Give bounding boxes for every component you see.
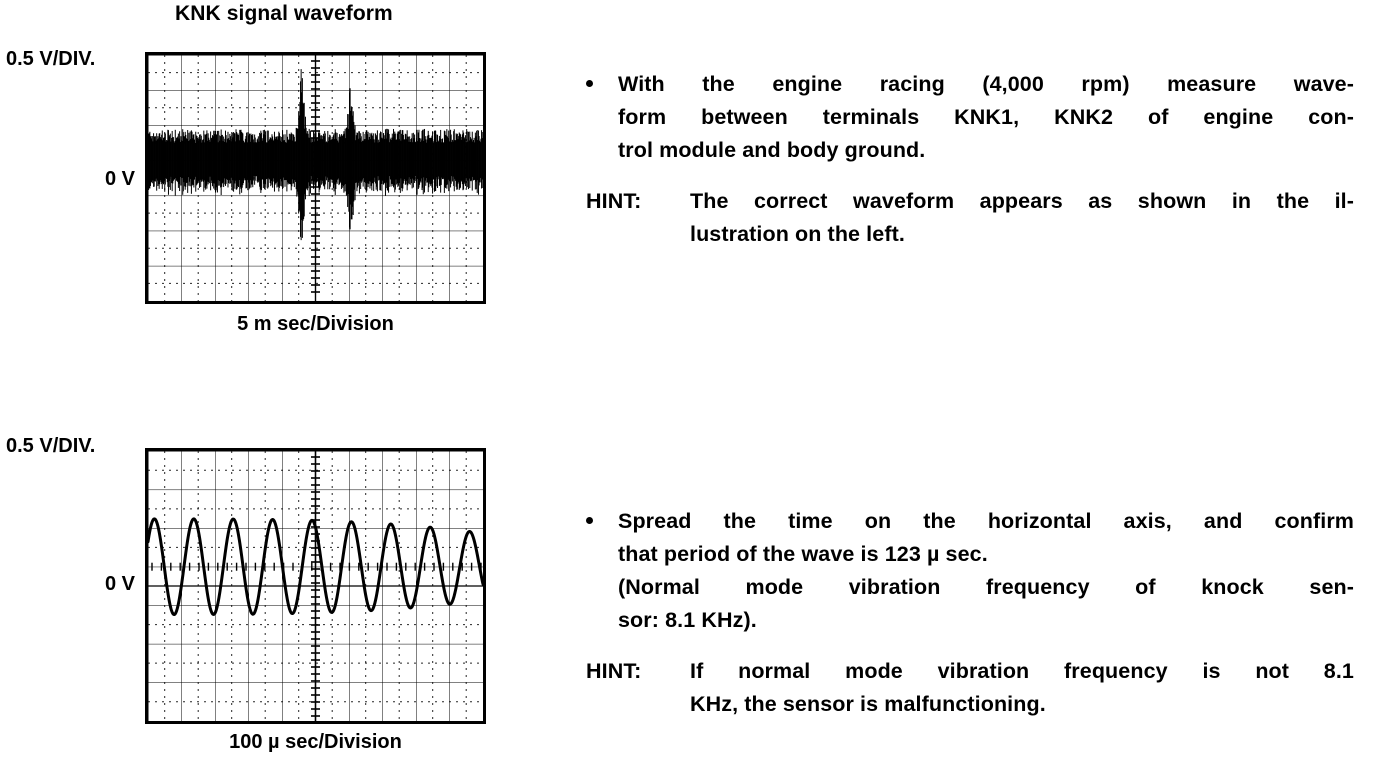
bullet-dot-icon [586,517,593,524]
instruction-block-top: With the engine racing (4,000 rpm) measu… [586,68,1354,251]
hint-label-bottom: HINT: [586,655,690,721]
bullet-line: (Normal mode vibration frequency of knoc… [618,571,1354,604]
bullet-paragraph-bottom: Spread the time on the horizontal axis, … [586,505,1354,637]
hint-line: The correct waveform appears as shown in… [690,185,1354,218]
scope-timebase-label-bottom: 100 µ sec/Division [145,731,486,754]
scope-vertical-scale-label-top: 0.5 V/DIV. [6,48,95,71]
scope-vertical-scale-label-bottom: 0.5 V/DIV. [6,435,95,458]
hint-text-top: The correct waveform appears as shown in… [690,185,1354,251]
scope-trace-bottom [148,451,483,721]
bullet-paragraph-top: With the engine racing (4,000 rpm) measu… [586,68,1354,167]
bullet-line: With the engine racing (4,000 rpm) measu… [618,68,1354,101]
hint-paragraph-top: HINT: The correct waveform appears as sh… [586,185,1354,251]
instruction-block-bottom: Spread the time on the horizontal axis, … [586,505,1354,721]
bullet-line: sor: 8.1 KHz). [618,604,1354,637]
scope-panel-bottom: 0.5 V/DIV. 0 V [0,425,530,766]
bullet-line: Spread the time on the horizontal axis, … [618,505,1354,538]
hint-line: If normal mode vibration frequency is no… [690,655,1354,688]
scope-zero-line-label-top: 0 V [60,168,135,191]
scope-title-top: KNK signal waveform [175,2,393,26]
bullet-line: form between terminals KNK1, KNK2 of eng… [618,101,1354,134]
hint-text-bottom: If normal mode vibration frequency is no… [690,655,1354,721]
scope-panel-top: KNK signal waveform 0.5 V/DIV. 0 V [0,0,530,350]
scope-trace-top [148,55,483,301]
bullet-text-top: With the engine racing (4,000 rpm) measu… [618,68,1354,167]
bullet-dot-icon [586,80,593,87]
hint-paragraph-bottom: HINT: If normal mode vibration frequency… [586,655,1354,721]
bullet-line: trol module and body ground. [618,134,1354,167]
scope-screen-top [145,52,486,304]
scope-screen-bottom [145,448,486,724]
bullet-text-bottom: Spread the time on the horizontal axis, … [618,505,1354,637]
hint-line: KHz, the sensor is malfunctioning. [690,688,1354,721]
scope-zero-line-label-bottom: 0 V [60,573,135,596]
scope-timebase-label-top: 5 m sec/Division [145,313,486,336]
bullet-line: that period of the wave is 123 µ sec. [618,538,1354,571]
hint-label-top: HINT: [586,185,690,251]
hint-line: lustration on the left. [690,218,1354,251]
